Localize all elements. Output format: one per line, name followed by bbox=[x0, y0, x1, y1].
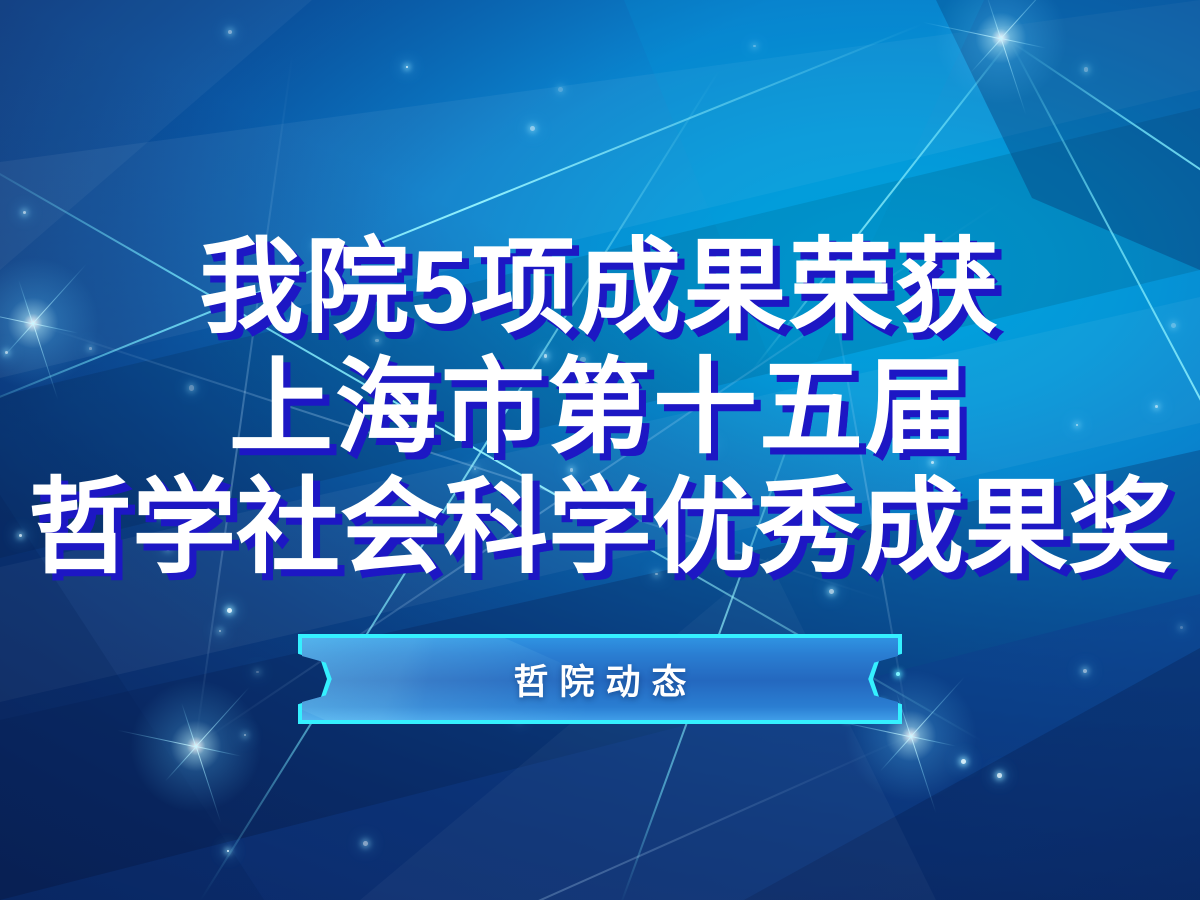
category-badge[interactable]: 哲院动态 bbox=[298, 634, 902, 724]
title-line-3: 哲学社会科学优秀成果奖 bbox=[0, 476, 1200, 580]
title-line-2: 上海市第十五届 bbox=[0, 356, 1200, 460]
banner-canvas: 我院5项成果荣获 上海市第十五届 哲学社会科学优秀成果奖 哲院动态 bbox=[0, 0, 1200, 900]
page-title: 我院5项成果荣获 上海市第十五届 哲学社会科学优秀成果奖 bbox=[0, 236, 1200, 580]
title-line-1: 我院5项成果荣获 bbox=[0, 236, 1200, 340]
badge-label: 哲院动态 bbox=[298, 634, 902, 724]
